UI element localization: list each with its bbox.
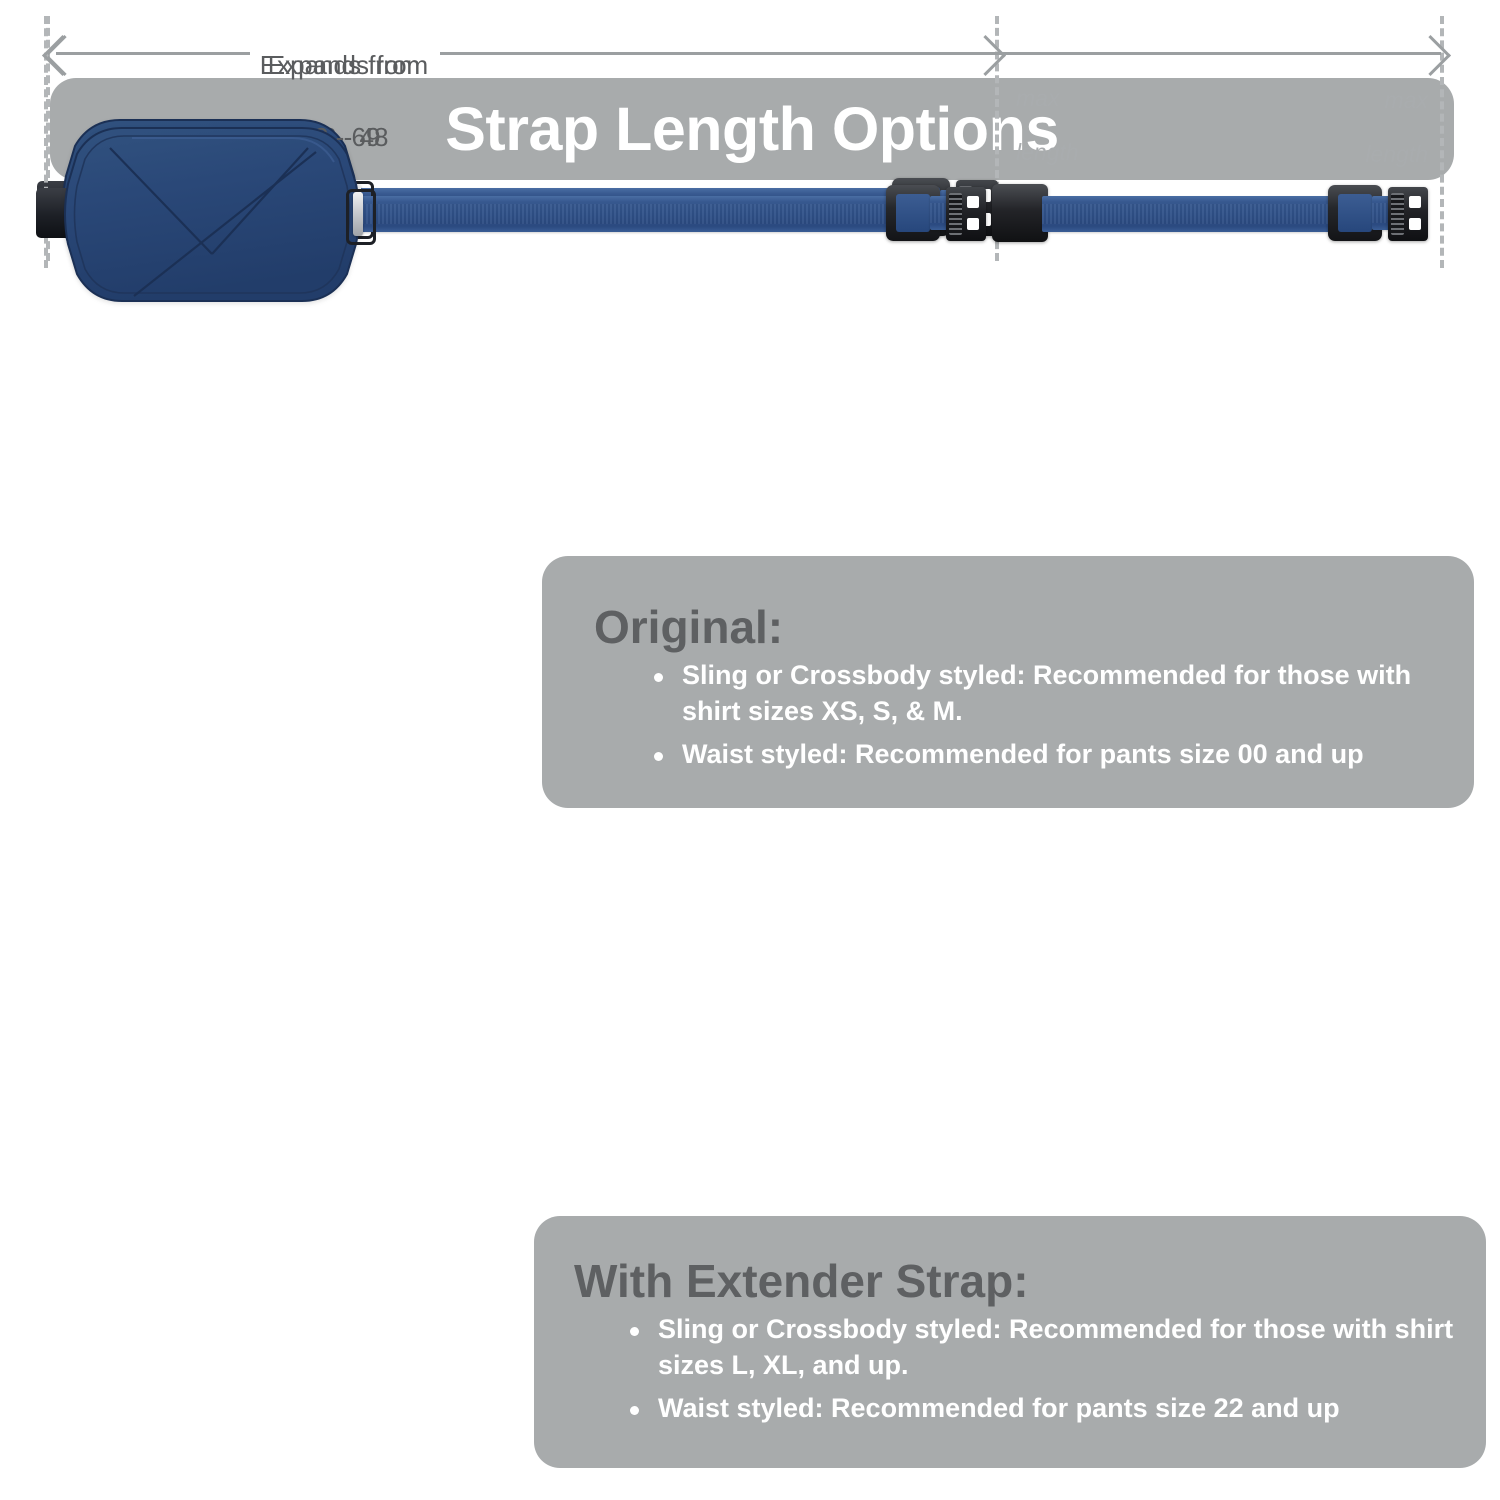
info-panel-original: Original: Sling or Crossbody styled: Rec… xyxy=(542,556,1474,808)
measure-prefix: Expands from xyxy=(240,48,440,84)
arrow-left-icon xyxy=(42,35,83,76)
belt-bag-extender xyxy=(62,122,362,307)
buckle-male-icon xyxy=(946,187,986,241)
max-length-label-extender: max length xyxy=(1300,60,1428,196)
measurement-row-extender: Expands from 43 - 69 inches max length xyxy=(0,0,1500,310)
list-item: Sling or Crossbody styled: Recommended f… xyxy=(630,1312,1470,1383)
measure-arrow-line-right xyxy=(440,52,1441,55)
list-item: Waist styled: Recommended for pants size… xyxy=(654,737,1454,773)
list-item: Sling or Crossbody styled: Recommended f… xyxy=(654,658,1454,729)
bullet-dot-icon xyxy=(654,673,663,682)
info-heading-original: Original: xyxy=(594,604,783,650)
max-length-line-1: max xyxy=(1300,87,1428,114)
info-bullet-list-original: Sling or Crossbody styled: Recommended f… xyxy=(654,658,1454,773)
bullet-dot-icon xyxy=(654,752,663,761)
list-item: Waist styled: Recommended for pants size… xyxy=(630,1391,1470,1427)
info-panel-extender: With Extender Strap: Sling or Crossbody … xyxy=(534,1216,1486,1468)
extender-buckle-male-icon xyxy=(1388,187,1428,241)
bullet-dot-icon xyxy=(630,1406,639,1415)
buckle-female-icon xyxy=(992,184,1048,242)
measure-arrow-line-left xyxy=(56,52,242,55)
info-bullet-list-extender: Sling or Crossbody styled: Recommended f… xyxy=(630,1312,1470,1427)
max-length-line-2: length xyxy=(1300,141,1428,168)
info-heading-extender: With Extender Strap: xyxy=(574,1258,1029,1304)
bullet-dot-icon xyxy=(630,1327,639,1336)
strap-webbing-main xyxy=(330,196,900,232)
extender-webbing xyxy=(1042,196,1342,232)
strap-slider-frame-icon xyxy=(346,189,376,245)
